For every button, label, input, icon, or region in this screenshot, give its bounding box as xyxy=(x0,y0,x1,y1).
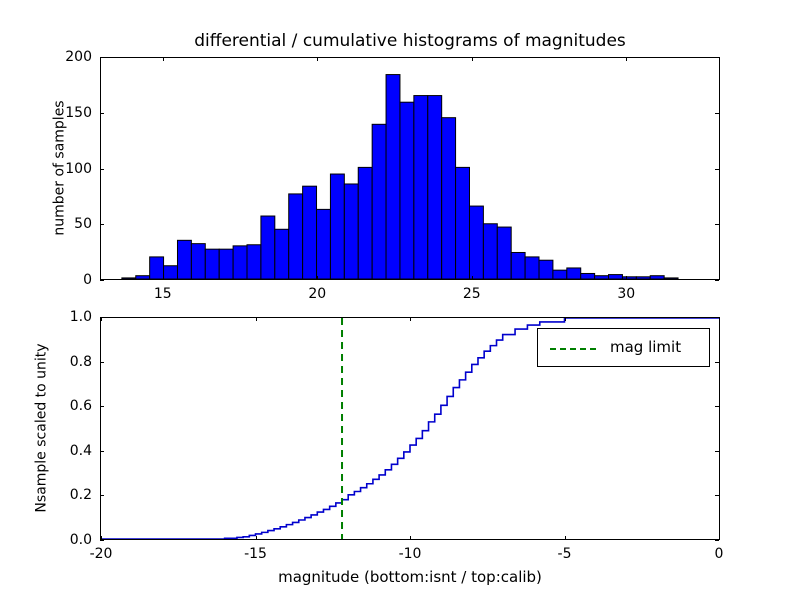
y-tick-label: 0.4 xyxy=(20,443,92,459)
y-tick-label: 0.2 xyxy=(20,487,92,503)
y-tick-label: 0.8 xyxy=(20,354,92,370)
histogram-bar xyxy=(164,266,178,279)
x-tick-label: 0 xyxy=(715,546,724,562)
histogram-bar xyxy=(177,240,191,279)
x-tick-label: 25 xyxy=(463,286,481,302)
bottom-axis-y-label: Nsample scaled to unity xyxy=(34,317,50,540)
shared-x-axis-label: magnitude (bottom:isnt / top:calib) xyxy=(100,568,720,586)
histogram-bar xyxy=(469,206,483,279)
y-tick-label: 200 xyxy=(20,49,92,65)
histogram-bar xyxy=(261,216,275,279)
histogram-bar xyxy=(539,260,553,279)
histogram-bar xyxy=(150,257,164,279)
y-tickmark xyxy=(100,362,104,363)
y-tickmark-right xyxy=(715,406,719,407)
x-tickmark-top xyxy=(256,317,257,321)
y-tickmark xyxy=(100,495,104,496)
y-tickmark-right xyxy=(715,495,719,496)
x-tickmark xyxy=(317,276,318,280)
histogram-bar xyxy=(219,249,233,279)
histogram-bar xyxy=(442,118,456,279)
y-tickmark-right xyxy=(715,280,719,281)
histogram-bar xyxy=(275,229,289,279)
y-tickmark xyxy=(100,406,104,407)
y-tickmark xyxy=(100,169,104,170)
x-tickmark xyxy=(472,276,473,280)
figure-canvas: differential / cumulative histograms of … xyxy=(0,0,800,600)
y-tick-label: 0.0 xyxy=(20,532,92,548)
y-tickmark xyxy=(100,57,104,58)
x-tick-label: -10 xyxy=(399,546,422,562)
histogram-bar xyxy=(191,244,205,279)
histogram-bar xyxy=(247,245,261,279)
y-tickmark xyxy=(100,224,104,225)
histogram-bar xyxy=(567,268,581,279)
x-tickmark-top xyxy=(472,57,473,61)
x-tick-label: 30 xyxy=(617,286,635,302)
histogram-bar xyxy=(122,278,136,279)
histogram-bar xyxy=(553,270,567,279)
y-tickmark xyxy=(100,113,104,114)
y-tickmark-right xyxy=(715,224,719,225)
histogram-bar xyxy=(664,278,678,279)
x-tickmark-top xyxy=(565,317,566,321)
y-tickmark-right xyxy=(715,169,719,170)
histogram-bar xyxy=(483,224,497,279)
x-tickmark-top xyxy=(163,57,164,61)
x-tickmark xyxy=(565,536,566,540)
histogram-bar xyxy=(609,275,623,279)
x-tickmark-top xyxy=(626,57,627,61)
histogram-bar xyxy=(289,194,303,279)
x-tick-label: -15 xyxy=(244,546,267,562)
histogram-bar xyxy=(581,273,595,279)
histogram-bar xyxy=(414,96,428,279)
x-tickmark xyxy=(256,536,257,540)
x-tick-label: -5 xyxy=(558,546,572,562)
histogram-bar xyxy=(344,184,358,279)
histogram-bar xyxy=(303,186,317,279)
histogram-bar xyxy=(525,257,539,279)
x-tickmark-top xyxy=(101,317,102,321)
histogram-bar xyxy=(233,246,247,279)
histogram-bar xyxy=(386,75,400,279)
histogram-bar xyxy=(650,276,664,279)
y-tickmark-right xyxy=(715,362,719,363)
x-tick-label: 15 xyxy=(154,286,172,302)
histogram-bar xyxy=(358,167,372,279)
y-tickmark xyxy=(100,280,104,281)
histogram-bar xyxy=(636,277,650,279)
x-tickmark xyxy=(719,536,720,540)
y-tickmark xyxy=(100,451,104,452)
y-tickmark-right xyxy=(715,57,719,58)
y-tickmark xyxy=(100,540,104,541)
histogram-bar xyxy=(400,102,414,279)
legend: mag limit xyxy=(537,328,710,367)
x-tickmark xyxy=(410,536,411,540)
y-tick-label: 150 xyxy=(20,105,92,121)
x-tickmark-top xyxy=(719,317,720,321)
y-tickmark-right xyxy=(715,317,719,318)
y-tickmark-right xyxy=(715,540,719,541)
y-tick-label: 100 xyxy=(20,161,92,177)
x-tick-label: 20 xyxy=(308,286,326,302)
histogram-bar xyxy=(428,96,442,279)
x-tickmark xyxy=(163,276,164,280)
legend-swatch-mag-limit xyxy=(550,348,596,350)
y-tick-label: 50 xyxy=(20,216,92,232)
histogram-bar xyxy=(205,249,219,279)
x-tick-label: -20 xyxy=(90,546,113,562)
histogram-bar xyxy=(595,276,609,279)
y-tickmark-right xyxy=(715,113,719,114)
x-tickmark xyxy=(101,536,102,540)
y-tick-label: 0 xyxy=(20,272,92,288)
legend-label-mag-limit: mag limit xyxy=(610,338,681,356)
y-tickmark-right xyxy=(715,451,719,452)
differential-histogram-plot xyxy=(101,58,719,279)
x-tickmark xyxy=(626,276,627,280)
x-tickmark-top xyxy=(410,317,411,321)
page-title: differential / cumulative histograms of … xyxy=(100,31,720,51)
histogram-bar xyxy=(497,227,511,279)
histogram-bar xyxy=(372,124,386,279)
histogram-bar xyxy=(511,252,525,279)
histogram-bar xyxy=(330,174,344,279)
x-tickmark-top xyxy=(317,57,318,61)
y-tick-label: 0.6 xyxy=(20,398,92,414)
y-tick-label: 1.0 xyxy=(20,309,92,325)
histogram-bar xyxy=(456,167,470,279)
histogram-bar xyxy=(622,277,636,279)
differential-histogram-axes xyxy=(100,57,720,280)
histogram-bar xyxy=(136,276,150,279)
histogram-bar xyxy=(317,209,331,279)
